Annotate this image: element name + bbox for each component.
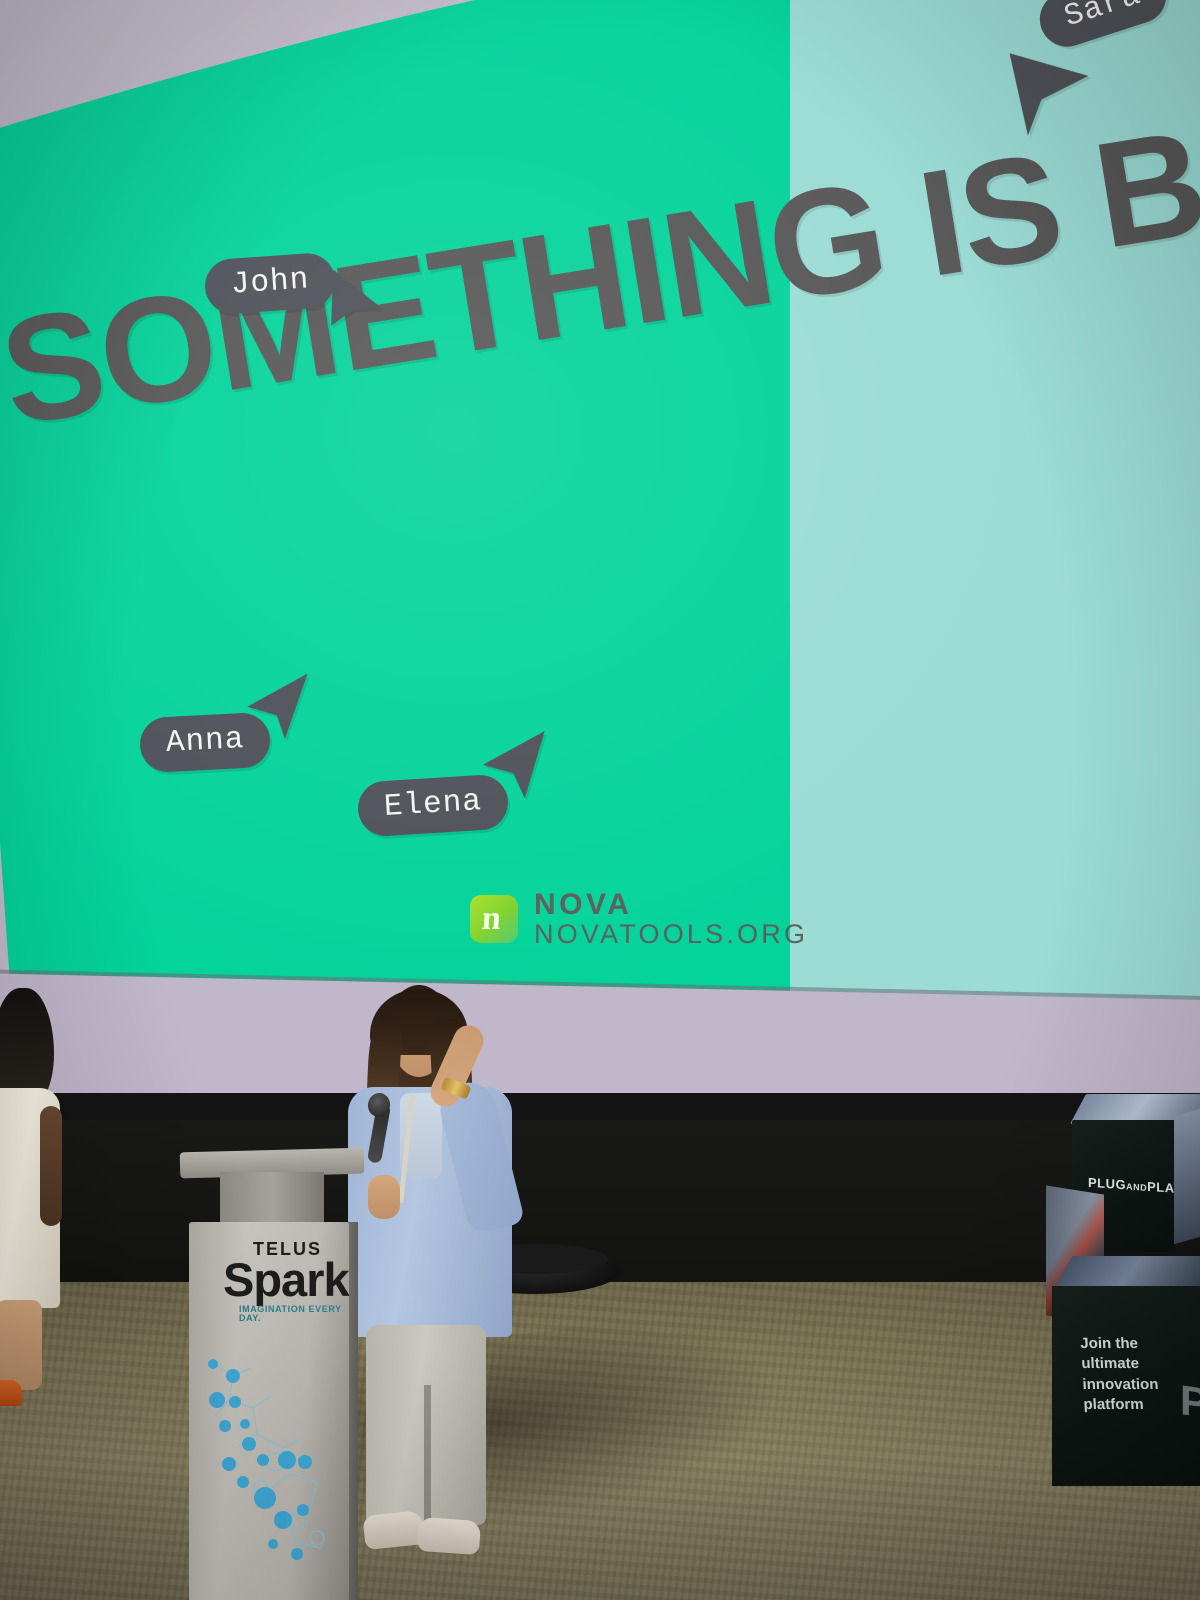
- speaker-pants-seam: [424, 1385, 431, 1525]
- nova-url: NOVATOOLS.ORG: [534, 921, 808, 949]
- nova-wordmark: NOVA NOVATOOLS.ORG: [534, 890, 808, 948]
- bystander-leg: [0, 1300, 42, 1390]
- projection-screen: SOMETHING IS BR John Anna Elena: [0, 0, 1200, 1093]
- message-line-4: platform: [1083, 1395, 1160, 1415]
- message-line-3: innovation: [1082, 1375, 1159, 1395]
- plugandplay-message: Join the ultimate innovation platform: [1080, 1334, 1160, 1415]
- speaker-shoe-left: [362, 1510, 425, 1550]
- podium: TELUS Spark ✴ IMAGINATION EVERY DAY.: [186, 1150, 358, 1600]
- speaker: [330, 985, 530, 1575]
- speaker-shoe-right: [417, 1517, 481, 1555]
- pnp-and: AND: [1126, 1181, 1147, 1192]
- plugandplay-cube-bottom: Join the ultimate innovation platform P: [1052, 1272, 1200, 1487]
- podium-front-panel: TELUS Spark ✴ IMAGINATION EVERY DAY.: [189, 1222, 349, 1600]
- cube-front-face: Join the ultimate innovation platform P: [1052, 1286, 1200, 1486]
- spark-wordmark: Spark: [223, 1256, 349, 1303]
- cursor-tag-label: John: [203, 252, 337, 316]
- partial-letter: P: [1180, 1376, 1200, 1428]
- message-line-2: ultimate: [1081, 1354, 1158, 1374]
- message-line-1: Join the: [1080, 1334, 1157, 1354]
- speaker-hand: [368, 1175, 400, 1219]
- bystander-shoe: [0, 1380, 22, 1406]
- cube-side-face: [1174, 1108, 1200, 1245]
- nova-logo-lockup: n NOVA NOVATOOLS.ORG: [470, 890, 808, 948]
- nova-mark-glyph: n: [481, 902, 502, 936]
- bystander: [0, 988, 76, 1408]
- telus-spark-logo: TELUS Spark ✴ IMAGINATION EVERY DAY.: [223, 1240, 349, 1323]
- spark-tagline: IMAGINATION EVERY DAY.: [239, 1305, 349, 1323]
- nova-name: NOVA: [534, 890, 808, 921]
- bystander-arm: [40, 1106, 62, 1226]
- cursor-tag-elena: Elena: [356, 773, 509, 837]
- cursor-tag-anna: Anna: [139, 712, 272, 774]
- molecule-graphic-icon: [199, 1342, 339, 1572]
- nova-mark-icon: n: [470, 895, 518, 943]
- screenshot-root: SOMETHING IS BR John Anna Elena: [0, 0, 1200, 1600]
- cursor-tag-john: John: [203, 252, 337, 316]
